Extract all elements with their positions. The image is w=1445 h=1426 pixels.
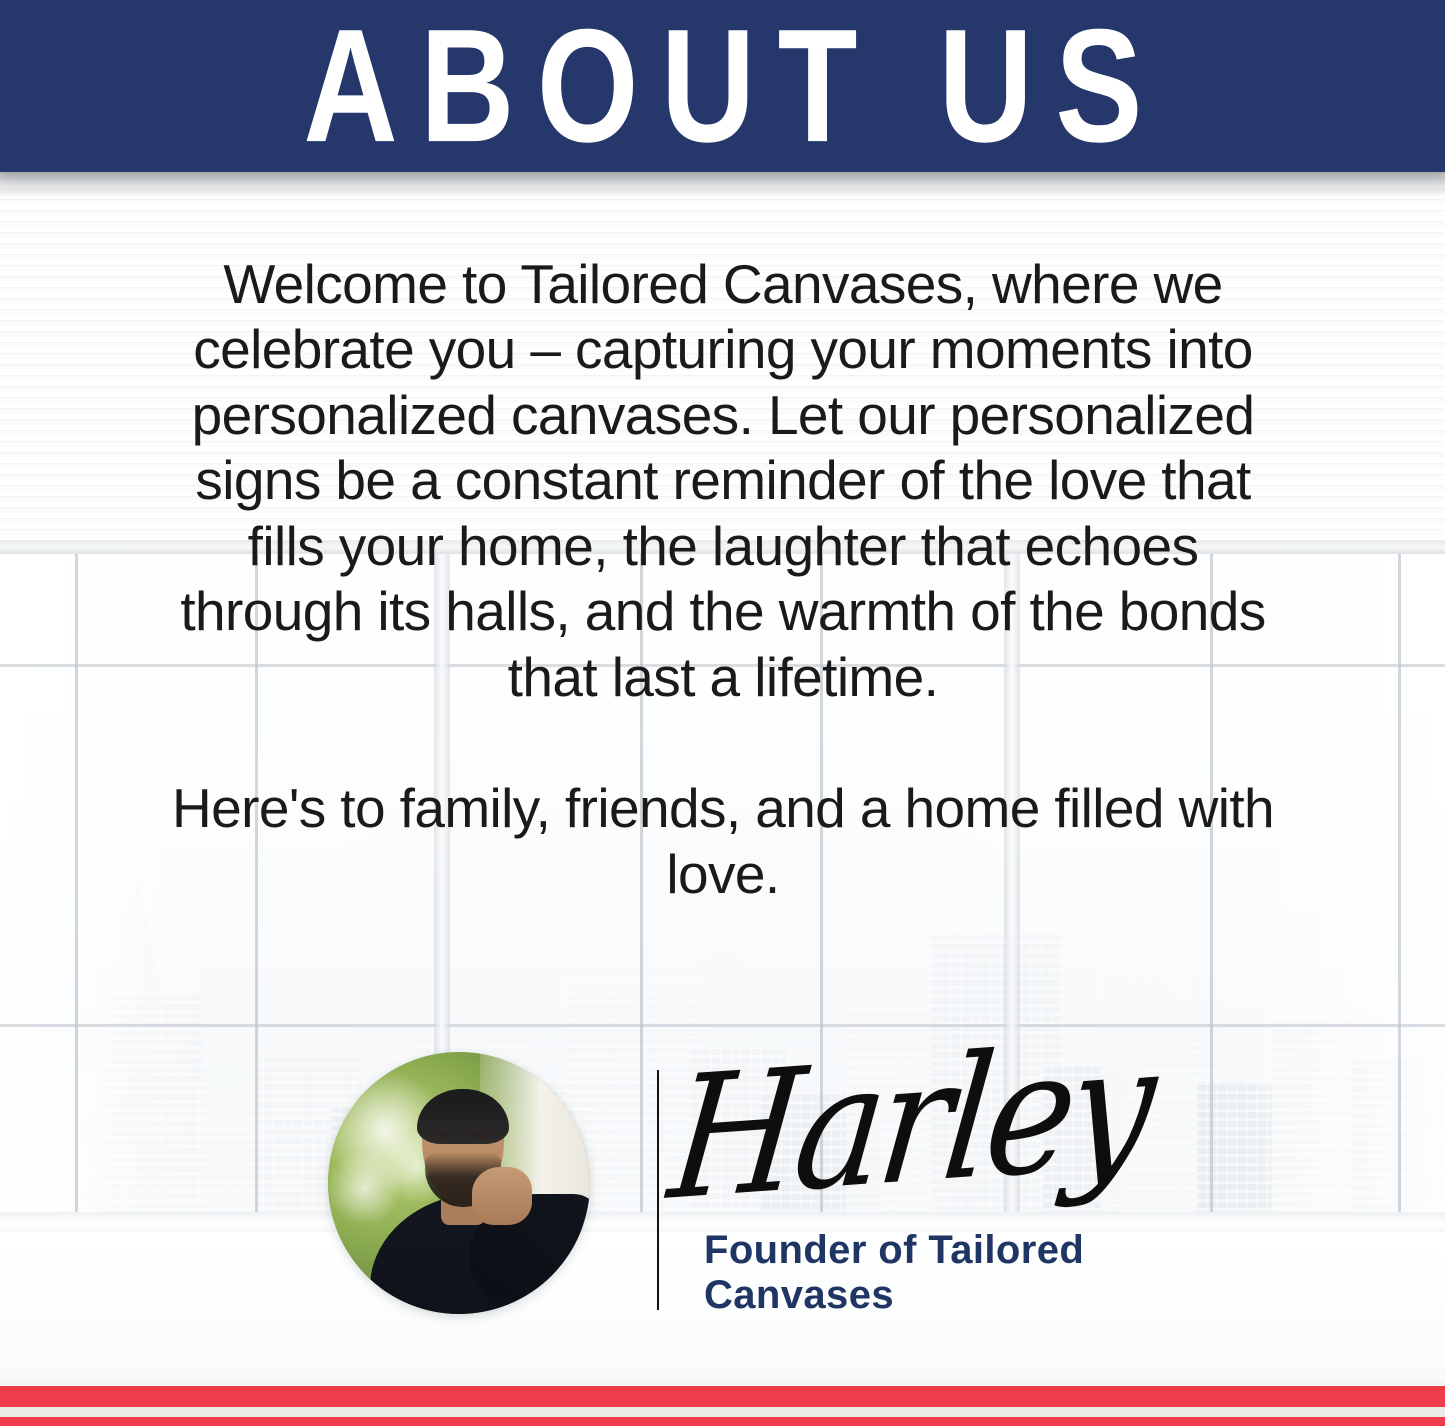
paragraph-spacer [168,710,1278,776]
about-paragraph-2: Here's to family, friends, and a home fi… [168,776,1278,907]
page-title: ABOUT US [281,5,1165,166]
avatar-hand [472,1167,532,1225]
footer-accent-stripe-top [0,1386,1445,1407]
footer-stripes [0,1380,1445,1426]
window-mullion [75,554,78,1232]
about-copy: Welcome to Tailored Canvases, where we c… [168,252,1278,907]
avatar [328,1052,590,1314]
avatar-eye-right [472,1131,486,1138]
about-us-card: ABOUT US Welcome to Tailored Canvases, w… [0,0,1445,1426]
footer-stripe-divider [0,1407,1445,1417]
signature-divider [657,1070,659,1310]
about-paragraph-1: Welcome to Tailored Canvases, where we c… [168,252,1278,710]
signature-role-line-1: Founder of Tailored [704,1228,1184,1273]
header-banner: ABOUT US [0,0,1445,172]
signature-role: Founder of Tailored Canvases [704,1228,1184,1318]
signature-role-line-2: Canvases [704,1273,1184,1318]
window-transom [0,1024,1445,1027]
window-mullion [1398,554,1401,1232]
footer-accent-stripe-bottom [0,1417,1445,1426]
